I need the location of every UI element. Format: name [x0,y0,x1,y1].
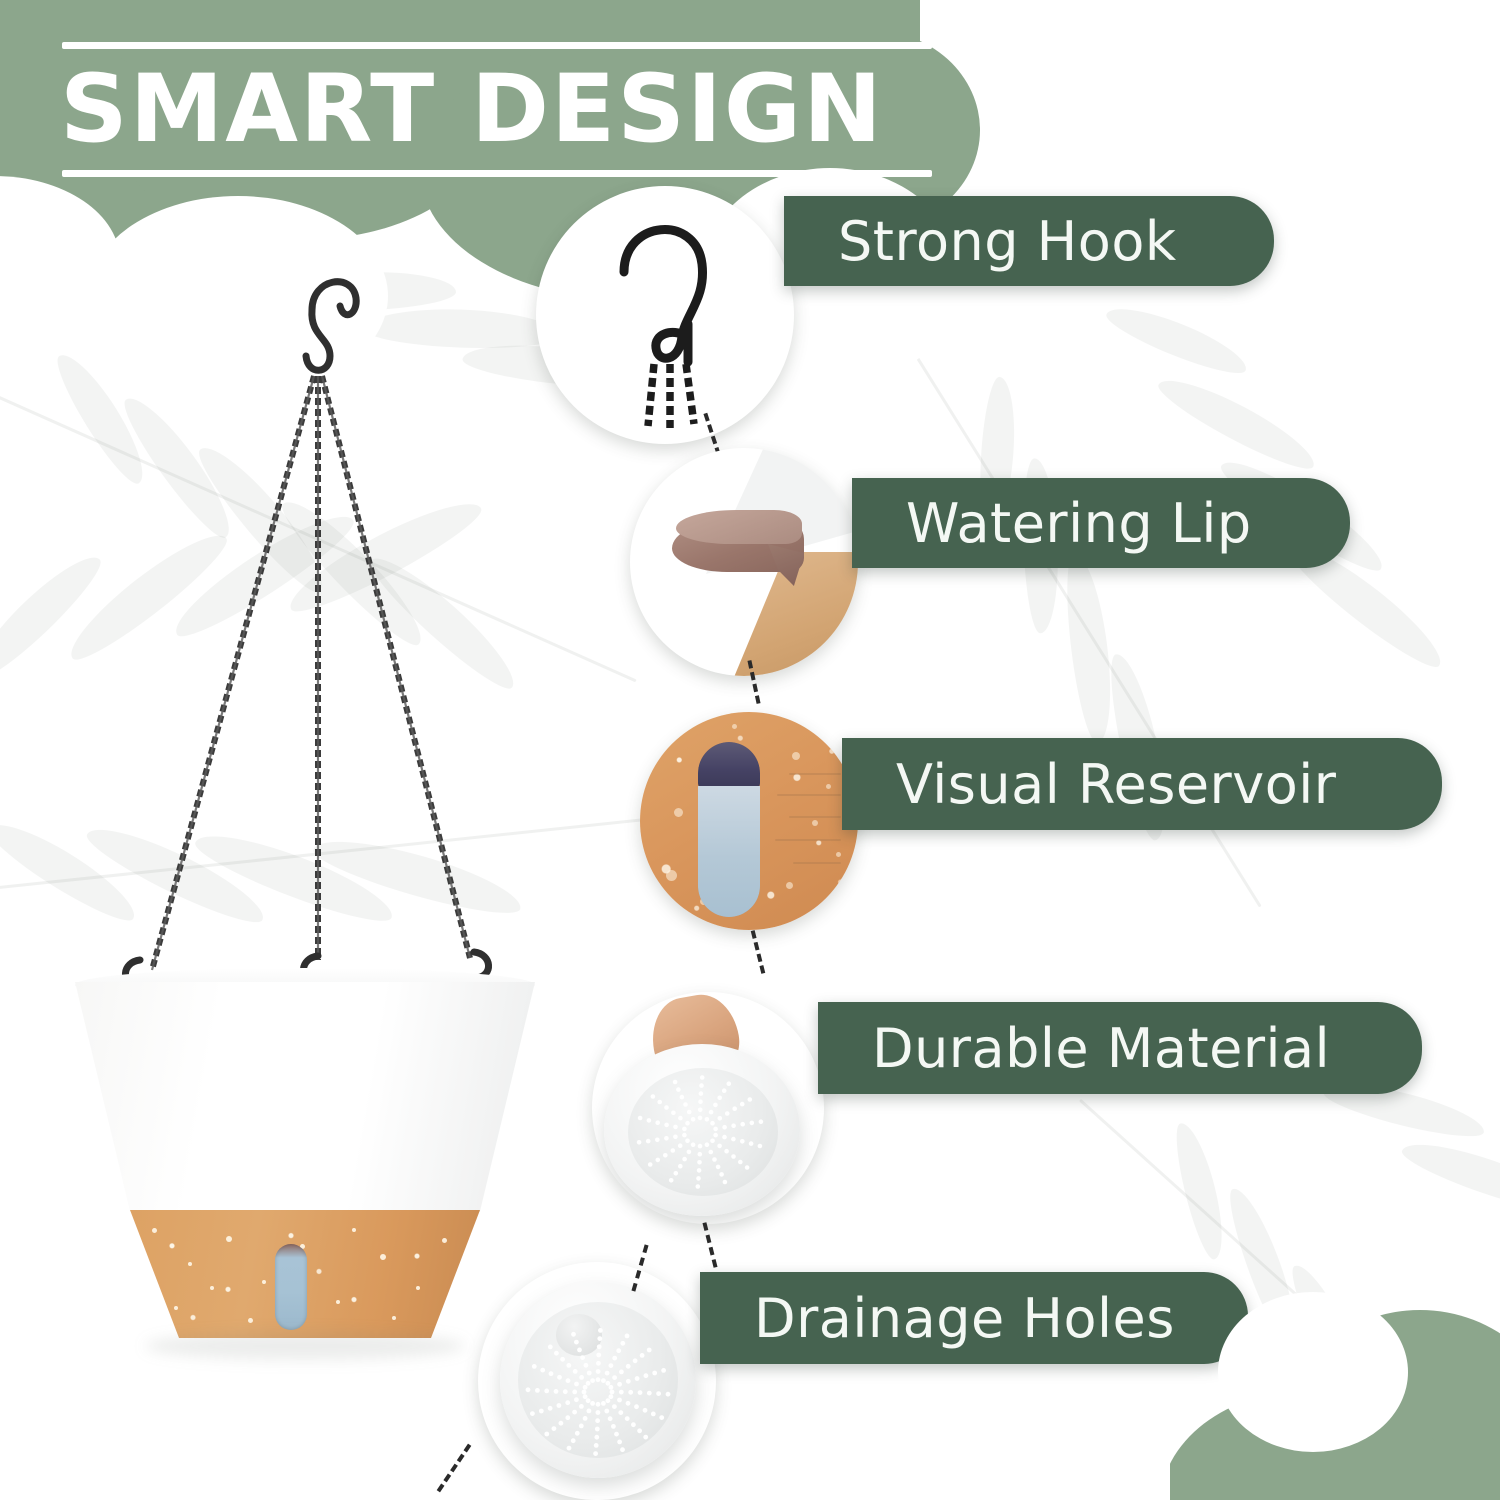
feature-label: Watering Lip [852,492,1252,555]
infographic-canvas: SMART DESIGN [0,0,1500,1500]
feature-badge-visual-reservoir[interactable]: Visual Reservoir [842,738,1442,830]
header-banner: SMART DESIGN [0,0,920,250]
feature-badge-watering-lip[interactable]: Watering Lip [852,478,1350,568]
hanging-planter-product [0,240,600,1360]
feature-label: Visual Reservoir [842,753,1336,816]
reservoir-measure-marks [766,769,840,882]
feature-label: Durable Material [818,1017,1330,1080]
header-rule-top [62,42,932,49]
connector-dash [437,1444,472,1493]
connector-dash [702,1222,717,1268]
corner-decoration [1170,1260,1500,1500]
reservoir-window [698,742,760,917]
reservoir-window-icon [640,712,858,930]
reservoir-water [698,786,760,917]
planter-water-level-indicator [275,1244,307,1330]
planter-body [75,982,535,1382]
page-title: SMART DESIGN [60,55,940,165]
planter-drop-shadow [145,1332,465,1360]
feature-label: Strong Hook [784,210,1177,273]
drainage-mesh-icon [478,1262,716,1500]
drainage-hole-pattern [592,992,824,1224]
flexing-bowl-icon [592,992,824,1224]
feature-badge-durable-material[interactable]: Durable Material [818,1002,1422,1094]
corner-notch [1218,1292,1408,1452]
drainage-hole-pattern [478,1262,716,1500]
watering-lip-icon [630,448,858,676]
feature-label: Drainage Holes [700,1287,1175,1350]
hook-icon [536,186,794,444]
connector-dash [751,930,766,974]
header-rule-bottom [62,170,932,177]
feature-badge-strong-hook[interactable]: Strong Hook [784,196,1274,286]
planter-upper-white [75,982,535,1212]
feature-badge-drainage-holes[interactable]: Drainage Holes [700,1272,1248,1364]
